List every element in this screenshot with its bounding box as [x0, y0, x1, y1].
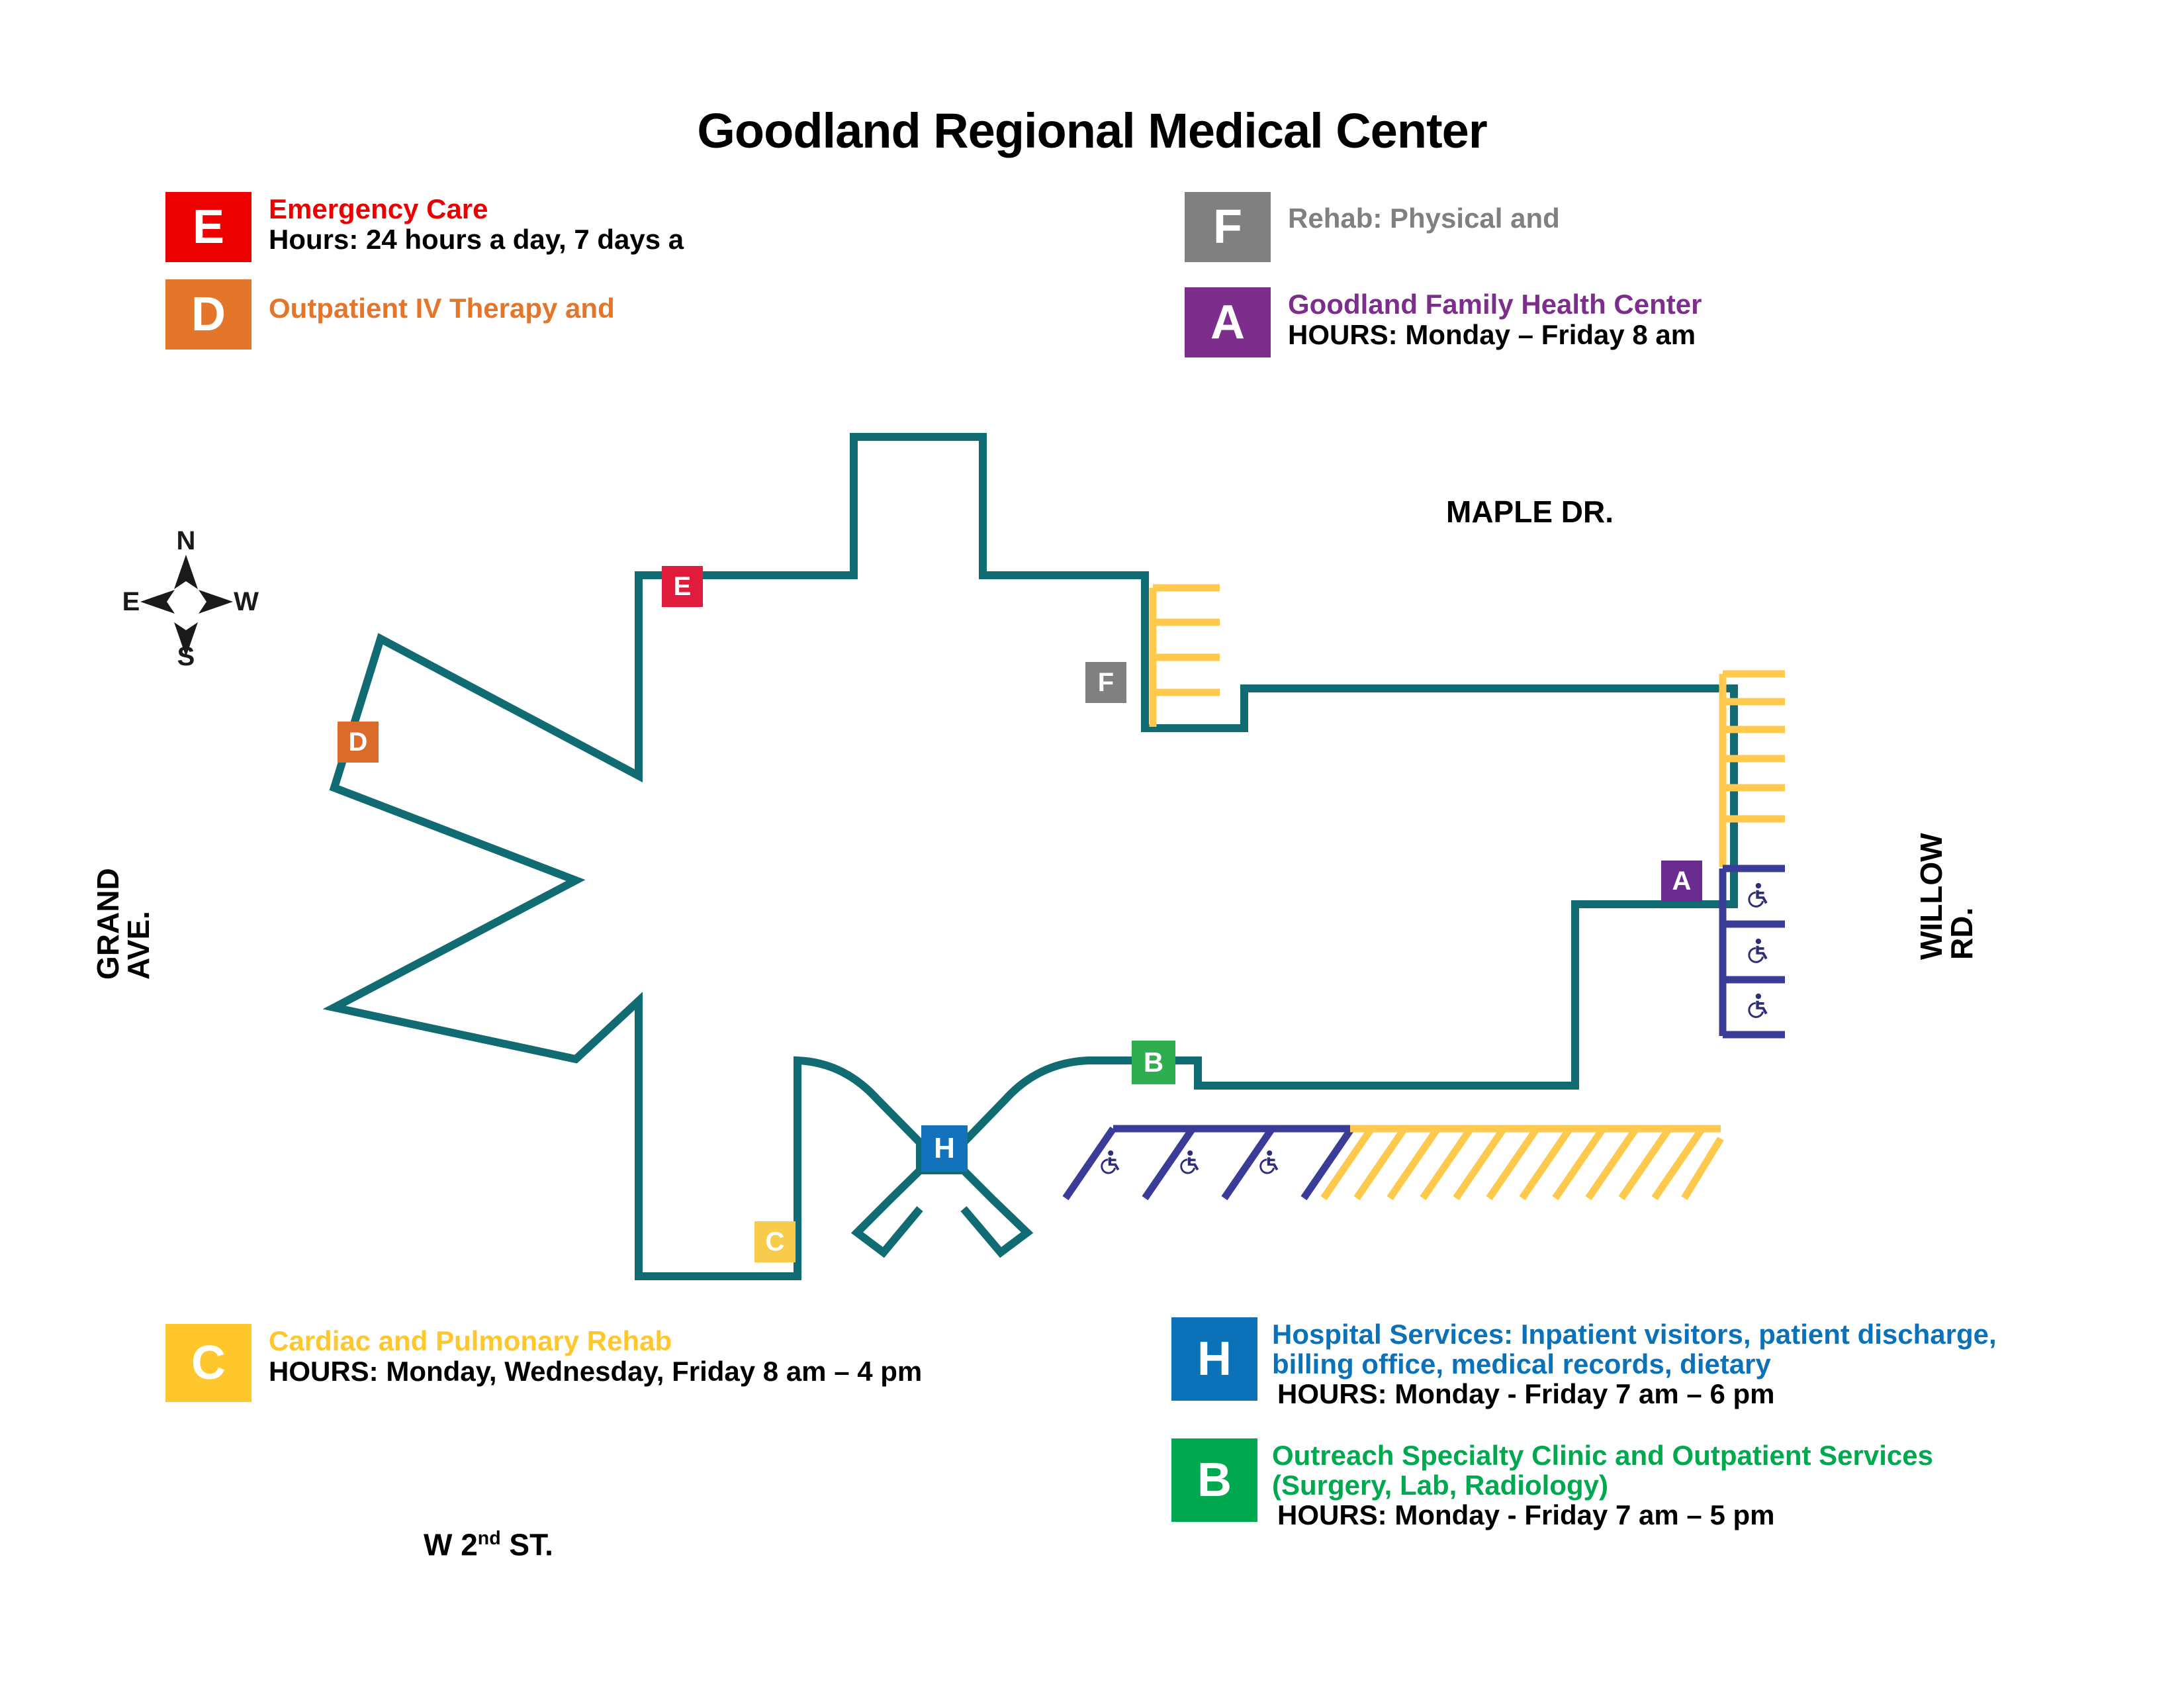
legend-text-outpatient-iv-therapy: Outpatient IV Therapy and — [251, 279, 615, 324]
legend-text-rehab: Rehab: Physical and — [1271, 192, 1560, 234]
legend-text-family-health-center: Goodland Family Health Center HOURS: Mon… — [1271, 287, 1702, 350]
canopy-wing-left — [857, 1170, 920, 1252]
wheelchair-icon — [1181, 1150, 1199, 1173]
legend-hours-family-health-center: HOURS: Monday – Friday 8 am — [1288, 320, 1702, 350]
map-marker-H-label: H — [934, 1132, 955, 1165]
willow-rd-line1: WILLOW — [1916, 833, 1946, 960]
wheelchair-icon — [1749, 994, 1768, 1017]
wheelchair-icon — [1102, 1150, 1120, 1173]
accessible-stall-divider — [1145, 1129, 1193, 1198]
w2nd-prefix: W 2 — [424, 1527, 478, 1562]
map-marker-D[interactable]: D — [338, 722, 379, 763]
legend-title-hospital-services: Hospital Services: Inpatient visitors, p… — [1272, 1320, 2053, 1379]
legend-top-left: E Emergency Care Hours: 24 hours a day, … — [165, 192, 993, 367]
map-marker-F[interactable]: F — [1085, 662, 1126, 703]
legend-title-cardiac-pulmonary-rehab: Cardiac and Pulmonary Rehab — [269, 1327, 1083, 1356]
legend-top-right: F Rehab: Physical and A Goodland Family … — [1185, 192, 2045, 375]
east-accessible-icons — [1749, 883, 1768, 1017]
legend-chip-F-letter: F — [1213, 203, 1242, 251]
map-marker-C-label: C — [766, 1227, 785, 1257]
legend-chip-H: H — [1171, 1317, 1257, 1401]
legend-text-outreach-specialty-clinic: Outreach Specialty Clinic and Outpatient… — [1257, 1438, 2053, 1530]
map-marker-F-label: F — [1098, 668, 1114, 698]
legend-title-outpatient-iv-therapy: Outpatient IV Therapy and — [269, 294, 615, 324]
street-label-willow-rd: WILLOW RD. — [1916, 833, 1977, 960]
legend-entry-rehab[interactable]: F Rehab: Physical and — [1185, 192, 2045, 262]
legend-text-cardiac-pulmonary-rehab: Cardiac and Pulmonary Rehab HOURS: Monda… — [251, 1324, 1083, 1387]
legend-chip-C-letter: C — [191, 1339, 226, 1387]
south-parking-lot — [1324, 1129, 1721, 1198]
wheelchair-icon — [1749, 883, 1768, 906]
map-marker-E-label: E — [674, 572, 692, 602]
canopy-wing-right — [964, 1170, 1027, 1252]
grand-ave-line1: GRAND — [93, 868, 123, 980]
legend-chip-B: B — [1171, 1438, 1257, 1522]
legend-chip-H-letter: H — [1197, 1335, 1232, 1383]
legend-hours-outreach-specialty-clinic: HOURS: Monday - Friday 7 am – 5 pm — [1272, 1500, 2053, 1530]
legend-chip-D: D — [165, 279, 251, 350]
legend-chip-E: E — [165, 192, 251, 262]
legend-entry-outreach-specialty-clinic[interactable]: B Outreach Specialty Clinic and Outpatie… — [1171, 1438, 2098, 1530]
street-label-w-2nd-st: W 2nd ST. — [424, 1529, 553, 1560]
compass-west-arrow-icon — [199, 590, 233, 614]
legend-bottom-right: H Hospital Services: Inpatient visitors,… — [1171, 1317, 2098, 1548]
legend-chip-C: C — [165, 1324, 251, 1402]
legend-entry-outpatient-iv-therapy[interactable]: D Outpatient IV Therapy and — [165, 279, 993, 350]
legend-chip-A: A — [1185, 287, 1271, 357]
map-marker-B[interactable]: B — [1132, 1041, 1175, 1084]
street-label-maple-dr: MAPLE DR. — [1446, 496, 1614, 527]
accessible-stall-divider — [1224, 1129, 1272, 1198]
legend-title-emergency-care: Emergency Care — [269, 195, 684, 224]
legend-bottom-left: C Cardiac and Pulmonary Rehab HOURS: Mon… — [165, 1324, 1125, 1419]
legend-hours-cardiac-pulmonary-rehab: HOURS: Monday, Wednesday, Friday 8 am – … — [269, 1356, 1083, 1387]
compass-east-label: E — [122, 587, 140, 616]
legend-entry-hospital-services[interactable]: H Hospital Services: Inpatient visitors,… — [1171, 1317, 2098, 1409]
accessible-stall-divider — [1066, 1129, 1113, 1198]
compass-east-arrow-icon — [140, 590, 175, 614]
compass-north-arrow-icon — [174, 555, 198, 589]
legend-title-family-health-center: Goodland Family Health Center — [1288, 290, 1702, 320]
legend-text-emergency-care: Emergency Care Hours: 24 hours a day, 7 … — [251, 192, 684, 255]
map-marker-B-label: B — [1144, 1047, 1163, 1078]
legend-title-rehab: Rehab: Physical and — [1288, 204, 1560, 234]
compass-west-label: W — [234, 587, 259, 616]
legend-title-outreach-specialty-clinic: Outreach Specialty Clinic and Outpatient… — [1272, 1441, 2053, 1500]
w2nd-ordinal-suffix: nd — [478, 1528, 501, 1549]
map-marker-D-label: D — [349, 727, 368, 757]
map-marker-H[interactable]: H — [921, 1125, 968, 1172]
grand-ave-line2: AVE. — [123, 868, 154, 980]
compass-rose: N S E W — [122, 526, 259, 671]
legend-chip-E-letter: E — [193, 203, 224, 251]
legend-hours-emergency-care: Hours: 24 hours a day, 7 days a — [269, 224, 684, 255]
compass-north-label: N — [177, 526, 196, 555]
map-marker-A-label: A — [1672, 867, 1692, 896]
wheelchair-icon — [1261, 1150, 1279, 1173]
north-parking-lot — [1153, 588, 1220, 727]
legend-chip-D-letter: D — [191, 291, 226, 338]
legend-hours-hospital-services: HOURS: Monday - Friday 7 am – 6 pm — [1272, 1379, 2053, 1409]
map-marker-C[interactable]: C — [754, 1221, 796, 1262]
legend-chip-A-letter: A — [1210, 299, 1245, 346]
legend-chip-F: F — [1185, 192, 1271, 262]
legend-chip-B-letter: B — [1197, 1456, 1232, 1504]
map-marker-A[interactable]: A — [1661, 861, 1702, 902]
legend-entry-emergency-care[interactable]: E Emergency Care Hours: 24 hours a day, … — [165, 192, 993, 262]
legend-text-hospital-services: Hospital Services: Inpatient visitors, p… — [1257, 1317, 2053, 1409]
legend-entry-family-health-center[interactable]: A Goodland Family Health Center HOURS: M… — [1185, 287, 2045, 357]
legend-entry-cardiac-pulmonary-rehab[interactable]: C Cardiac and Pulmonary Rehab HOURS: Mon… — [165, 1324, 1125, 1402]
wheelchair-icon — [1749, 939, 1768, 962]
street-label-grand-ave: GRAND AVE. — [93, 868, 154, 980]
willow-rd-line2: RD. — [1946, 833, 1977, 960]
map-marker-E[interactable]: E — [662, 566, 703, 607]
w2nd-suffix: ST. — [501, 1527, 553, 1562]
